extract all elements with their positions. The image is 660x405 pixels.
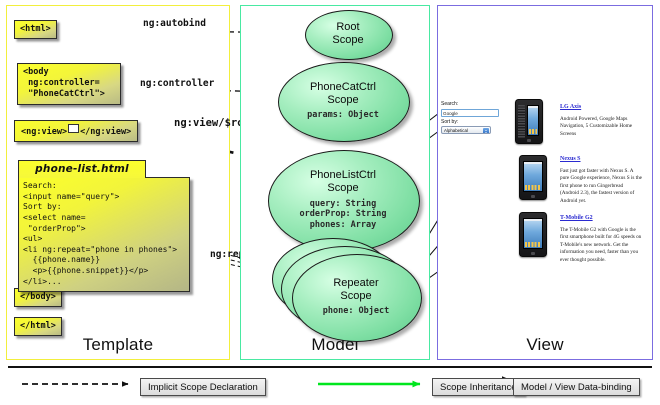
- sort-label: Sort by:: [441, 119, 503, 126]
- scope-repeater-name: Repeater Scope: [333, 277, 378, 302]
- code-box-html-close[interactable]: </html>: [14, 317, 62, 336]
- legend-divider: [8, 366, 652, 368]
- phone-snippet: The T-Mobile G2 with Google is the first…: [560, 227, 642, 264]
- phone-app-icons: [525, 185, 541, 190]
- phone-home-button: [527, 139, 531, 142]
- phone-screen: [527, 105, 539, 136]
- scope-phonelistctrl-props: query: String orderProp: String phones: …: [300, 199, 387, 231]
- phone-app-icons: [529, 129, 537, 134]
- panel-label-template: Template: [7, 335, 229, 355]
- legend-item-binding: Model / View Data-binding: [513, 378, 640, 396]
- view-search-form: Search: Google Sort by: Alphabetical: [441, 101, 503, 134]
- phone-image[interactable]: [519, 155, 547, 200]
- code-box-ngview[interactable]: <ng:view></ng:view>: [14, 120, 138, 142]
- scope-root-name: Root Scope: [332, 21, 363, 46]
- chevron-updown-icon: [483, 128, 489, 134]
- scope-phonecatctrl[interactable]: PhoneCatCtrl Scope params: Object: [278, 62, 408, 140]
- ngview-close-tag: </ng:view>: [80, 127, 131, 137]
- phone-image[interactable]: [515, 99, 543, 144]
- scope-phonecatctrl-props: params: Object: [307, 110, 379, 121]
- phone-snippet: Android Powered, Google Maps Navigation,…: [560, 116, 642, 138]
- phone-status-bar: [524, 219, 542, 221]
- legend: Implicit Scope Declaration Scope Inherit…: [0, 364, 660, 405]
- legend-item-inheritance: Scope Inheritance: [432, 378, 525, 396]
- phone-screen: [523, 161, 543, 192]
- note-title: phone-list.html: [18, 160, 146, 178]
- phone-title-link[interactable]: LG Axis: [560, 104, 581, 110]
- phone-title-link[interactable]: T-Mobile G2: [560, 215, 593, 221]
- edge-label-autobind: ng:autobind: [143, 18, 206, 29]
- scope-root[interactable]: Root Scope: [305, 10, 391, 58]
- sort-select[interactable]: Alphabetical: [441, 126, 491, 134]
- phone-home-button: [531, 252, 535, 255]
- phone-status-bar: [528, 106, 538, 108]
- sort-select-value: Alphabetical: [444, 128, 468, 133]
- scope-repeater[interactable]: Repeater Scope phone: Object: [292, 254, 420, 340]
- scope-repeater-props: phone: Object: [323, 306, 390, 317]
- phone-title-link[interactable]: Nexus S: [560, 156, 581, 162]
- scope-phonecatctrl-name: PhoneCatCtrl Scope: [310, 81, 376, 106]
- ngview-open-tag: <ng:view>: [21, 127, 67, 137]
- phone-screen: [523, 218, 543, 249]
- code-box-body-open[interactable]: <body ng:controller= "PhoneCatCtrl">: [17, 63, 121, 105]
- edge-label-controller: ng:controller: [140, 78, 214, 89]
- phone-snippet: Fast just got faster with Nexus S. A pur…: [560, 168, 642, 205]
- legend-label-inheritance: Scope Inheritance: [432, 378, 525, 396]
- ngview-slot-icon: [68, 124, 79, 133]
- phone-keyboard: [518, 105, 525, 138]
- legend-item-implicit: Implicit Scope Declaration: [140, 378, 266, 396]
- phone-app-icons: [525, 242, 541, 247]
- search-input[interactable]: Google: [441, 109, 499, 117]
- scope-phonelistctrl[interactable]: PhoneListCtrl Scope query: String orderP…: [268, 150, 418, 250]
- scope-phonelistctrl-name: PhoneListCtrl Scope: [310, 169, 376, 194]
- note-code: Search: <input name="query"> Sort by: <s…: [18, 177, 190, 292]
- phone-status-bar: [524, 162, 542, 164]
- legend-label-implicit: Implicit Scope Declaration: [140, 378, 266, 396]
- diagram-canvas: Template <html> <body ng:controller= "Ph…: [0, 0, 660, 405]
- phone-home-button: [531, 195, 535, 198]
- legend-label-binding: Model / View Data-binding: [513, 378, 640, 396]
- phone-list-note[interactable]: phone-list.html Search: <input name="que…: [18, 160, 190, 292]
- search-label: Search:: [441, 101, 503, 108]
- phone-image[interactable]: [519, 212, 547, 257]
- code-box-html-open[interactable]: <html>: [14, 20, 57, 39]
- panel-label-view: View: [438, 335, 652, 355]
